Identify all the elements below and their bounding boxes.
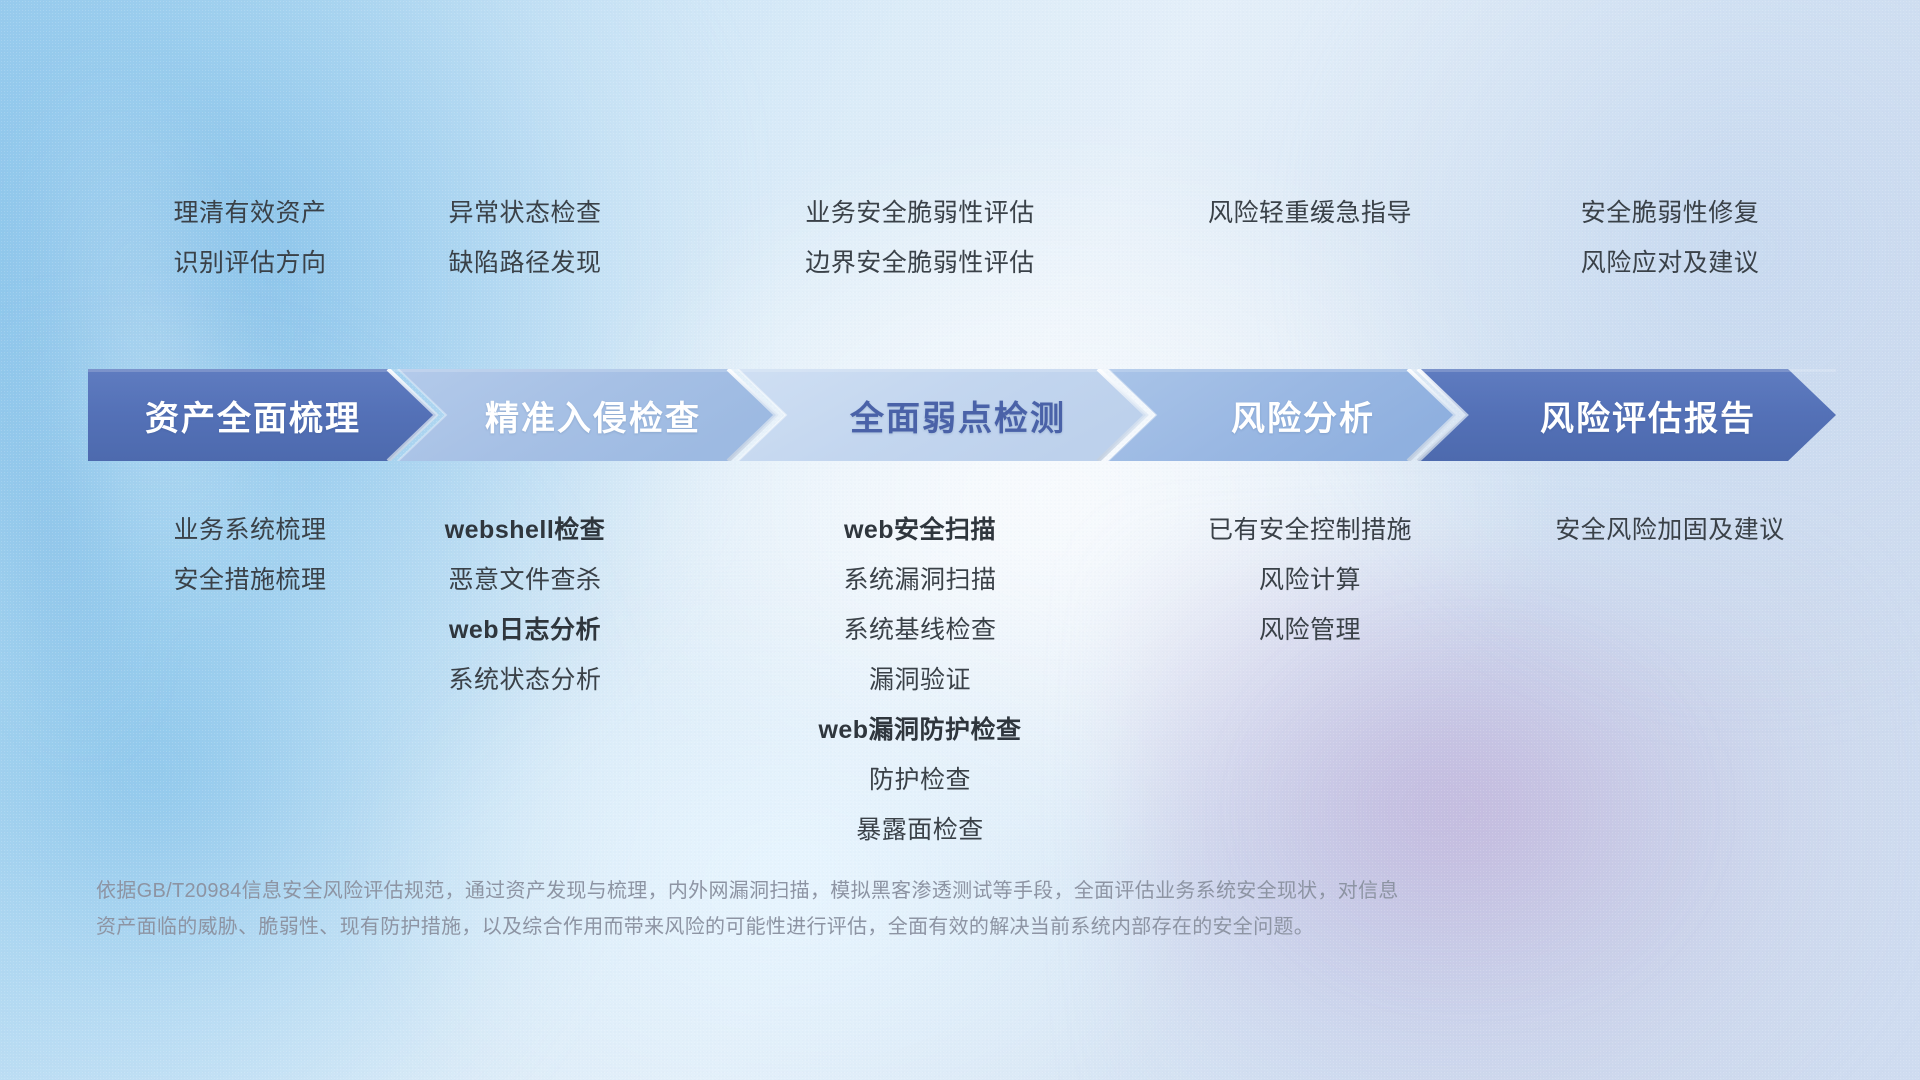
bottom-item: 已有安全控制措施 [1208, 505, 1412, 555]
process-diagram: 理清有效资产 识别评估方向 异常状态检查 缺陷路径发现 业务安全脆弱性评估 边界… [0, 0, 1920, 1080]
arrow-label-step-4[interactable]: 风险分析 [1143, 369, 1463, 461]
description-paragraph: 依据GB/T20984信息安全风险评估规范，通过资产发现与梳理，内外网漏洞扫描，… [96, 873, 1736, 945]
bottom-item: web漏洞防护检查 [818, 705, 1021, 755]
bottom-item: 系统状态分析 [448, 655, 601, 705]
arrow-label-step-3[interactable]: 全面弱点检测 [768, 369, 1148, 461]
arrow-label-step-5[interactable]: 风险评估报告 [1463, 369, 1833, 461]
bottom-items-step-3: web安全扫描 系统漏洞扫描 系统基线检查 漏洞验证 web漏洞防护检查 防护检… [700, 505, 1140, 855]
top-items-step-2: 异常状态检查 缺陷路径发现 [330, 188, 720, 288]
bottom-item: 安全风险加固及建议 [1555, 505, 1785, 555]
bottom-item: 风险管理 [1259, 605, 1361, 655]
bottom-item: webshell检查 [445, 505, 606, 555]
top-items-step-5: 安全脆弱性修复 风险应对及建议 [1450, 188, 1890, 288]
bottom-item: 系统基线检查 [843, 605, 996, 655]
top-item: 业务安全脆弱性评估 [805, 188, 1035, 238]
bottom-item: 漏洞验证 [869, 655, 971, 705]
top-item: 风险应对及建议 [1581, 238, 1760, 288]
top-items-step-3: 业务安全脆弱性评估 边界安全脆弱性评估 [700, 188, 1140, 288]
top-item: 理清有效资产 [173, 188, 326, 238]
top-item: 风险轻重缓急指导 [1208, 188, 1412, 238]
bottom-item: 风险计算 [1259, 555, 1361, 605]
top-item: 缺陷路径发现 [448, 238, 601, 288]
description-line-1: 依据GB/T20984信息安全风险评估规范，通过资产发现与梳理，内外网漏洞扫描，… [96, 873, 1736, 909]
top-item: 边界安全脆弱性评估 [805, 238, 1035, 288]
arrow-label-step-2[interactable]: 精准入侵检查 [418, 369, 768, 461]
bottom-items-step-5: 安全风险加固及建议 [1450, 505, 1890, 555]
bottom-item: 恶意文件查杀 [448, 555, 601, 605]
bottom-item: 系统漏洞扫描 [843, 555, 996, 605]
bottom-item: 防护检查 [869, 755, 971, 805]
description-line-2: 资产面临的威胁、脆弱性、现有防护措施，以及综合作用而带来风险的可能性进行评估，全… [96, 909, 1736, 945]
bottom-item: 业务系统梳理 [173, 505, 326, 555]
top-item: 安全脆弱性修复 [1581, 188, 1760, 238]
bottom-items-step-2: webshell检查 恶意文件查杀 web日志分析 系统状态分析 [330, 505, 720, 705]
process-arrow-banner: 资产全面梳理 精准入侵检查 全面弱点检测 风险分析 风险评估报告 [88, 369, 1836, 461]
bottom-item: 暴露面检查 [856, 805, 984, 855]
bottom-item: web安全扫描 [844, 505, 996, 555]
bottom-item: 安全措施梳理 [173, 555, 326, 605]
top-item: 异常状态检查 [448, 188, 601, 238]
top-item: 识别评估方向 [173, 238, 326, 288]
arrow-label-step-1[interactable]: 资产全面梳理 [88, 369, 418, 461]
bottom-item: web日志分析 [449, 605, 601, 655]
